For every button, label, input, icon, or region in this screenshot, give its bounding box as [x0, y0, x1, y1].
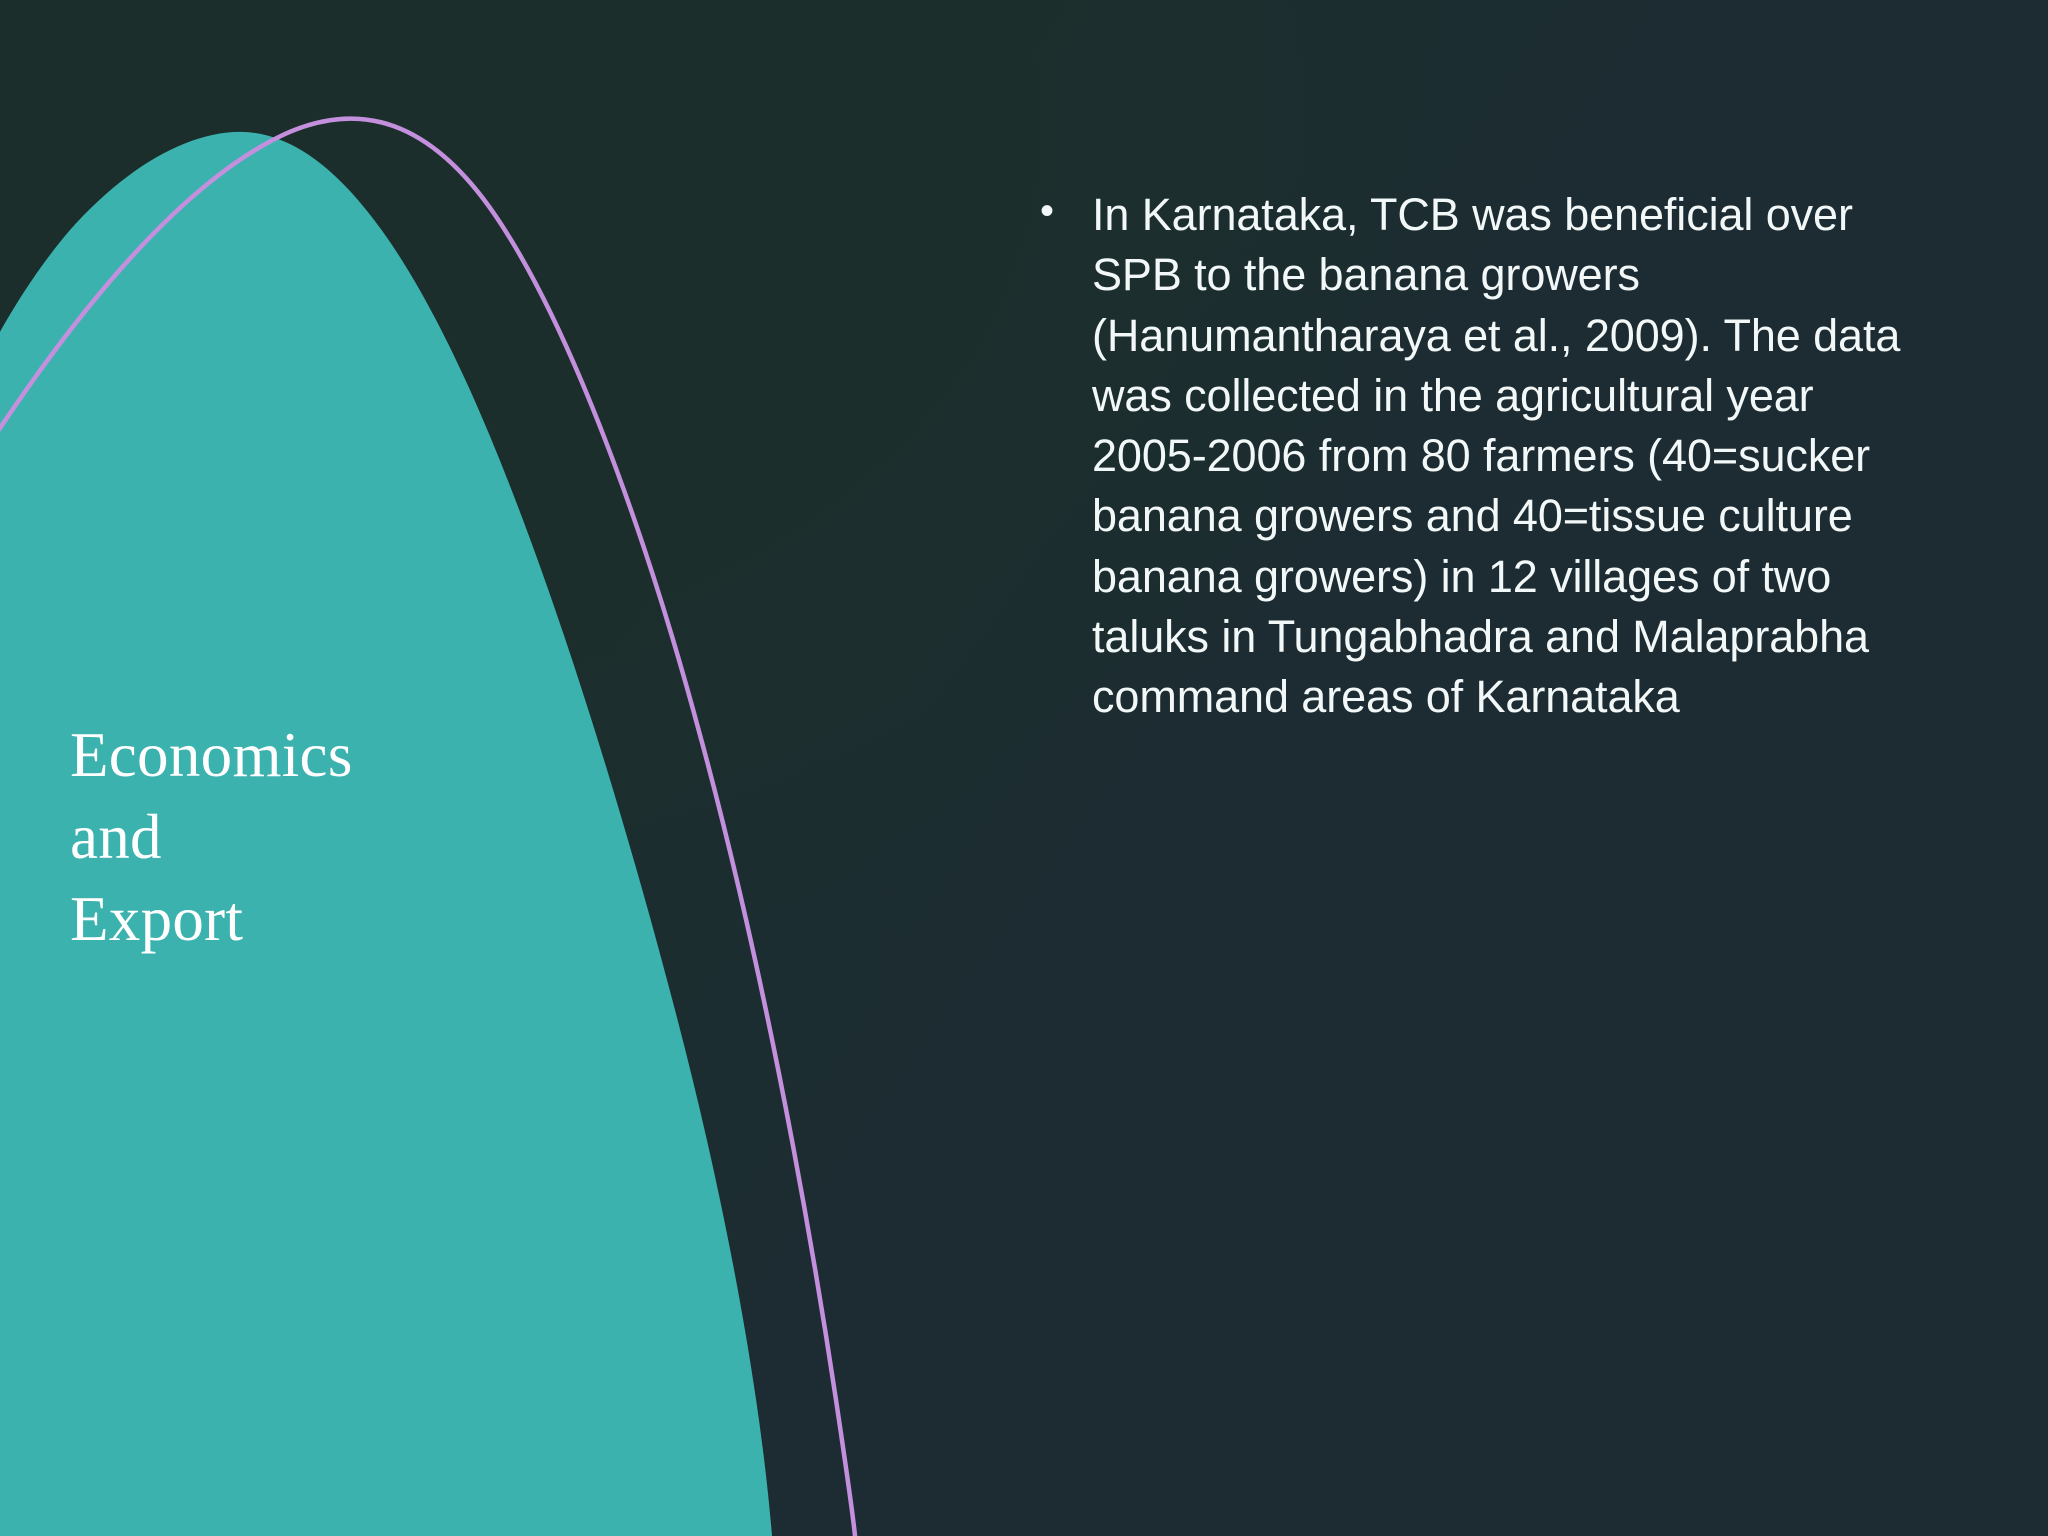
bullet-point-icon: • [1040, 185, 1092, 239]
title-line-1: Economics [70, 715, 490, 797]
slide-title: Economics and Export [70, 715, 490, 961]
presentation-slide: Economics and Export • In Karnataka, TCB… [0, 0, 2048, 1536]
slide-body-content: • In Karnataka, TCB was beneficial over … [1040, 185, 1940, 728]
bullet-item-text: In Karnataka, TCB was beneficial over SP… [1092, 185, 1940, 728]
bullet-list-item: • In Karnataka, TCB was beneficial over … [1040, 185, 1940, 728]
title-line-2: and [70, 797, 490, 879]
title-line-3: Export [70, 879, 490, 961]
